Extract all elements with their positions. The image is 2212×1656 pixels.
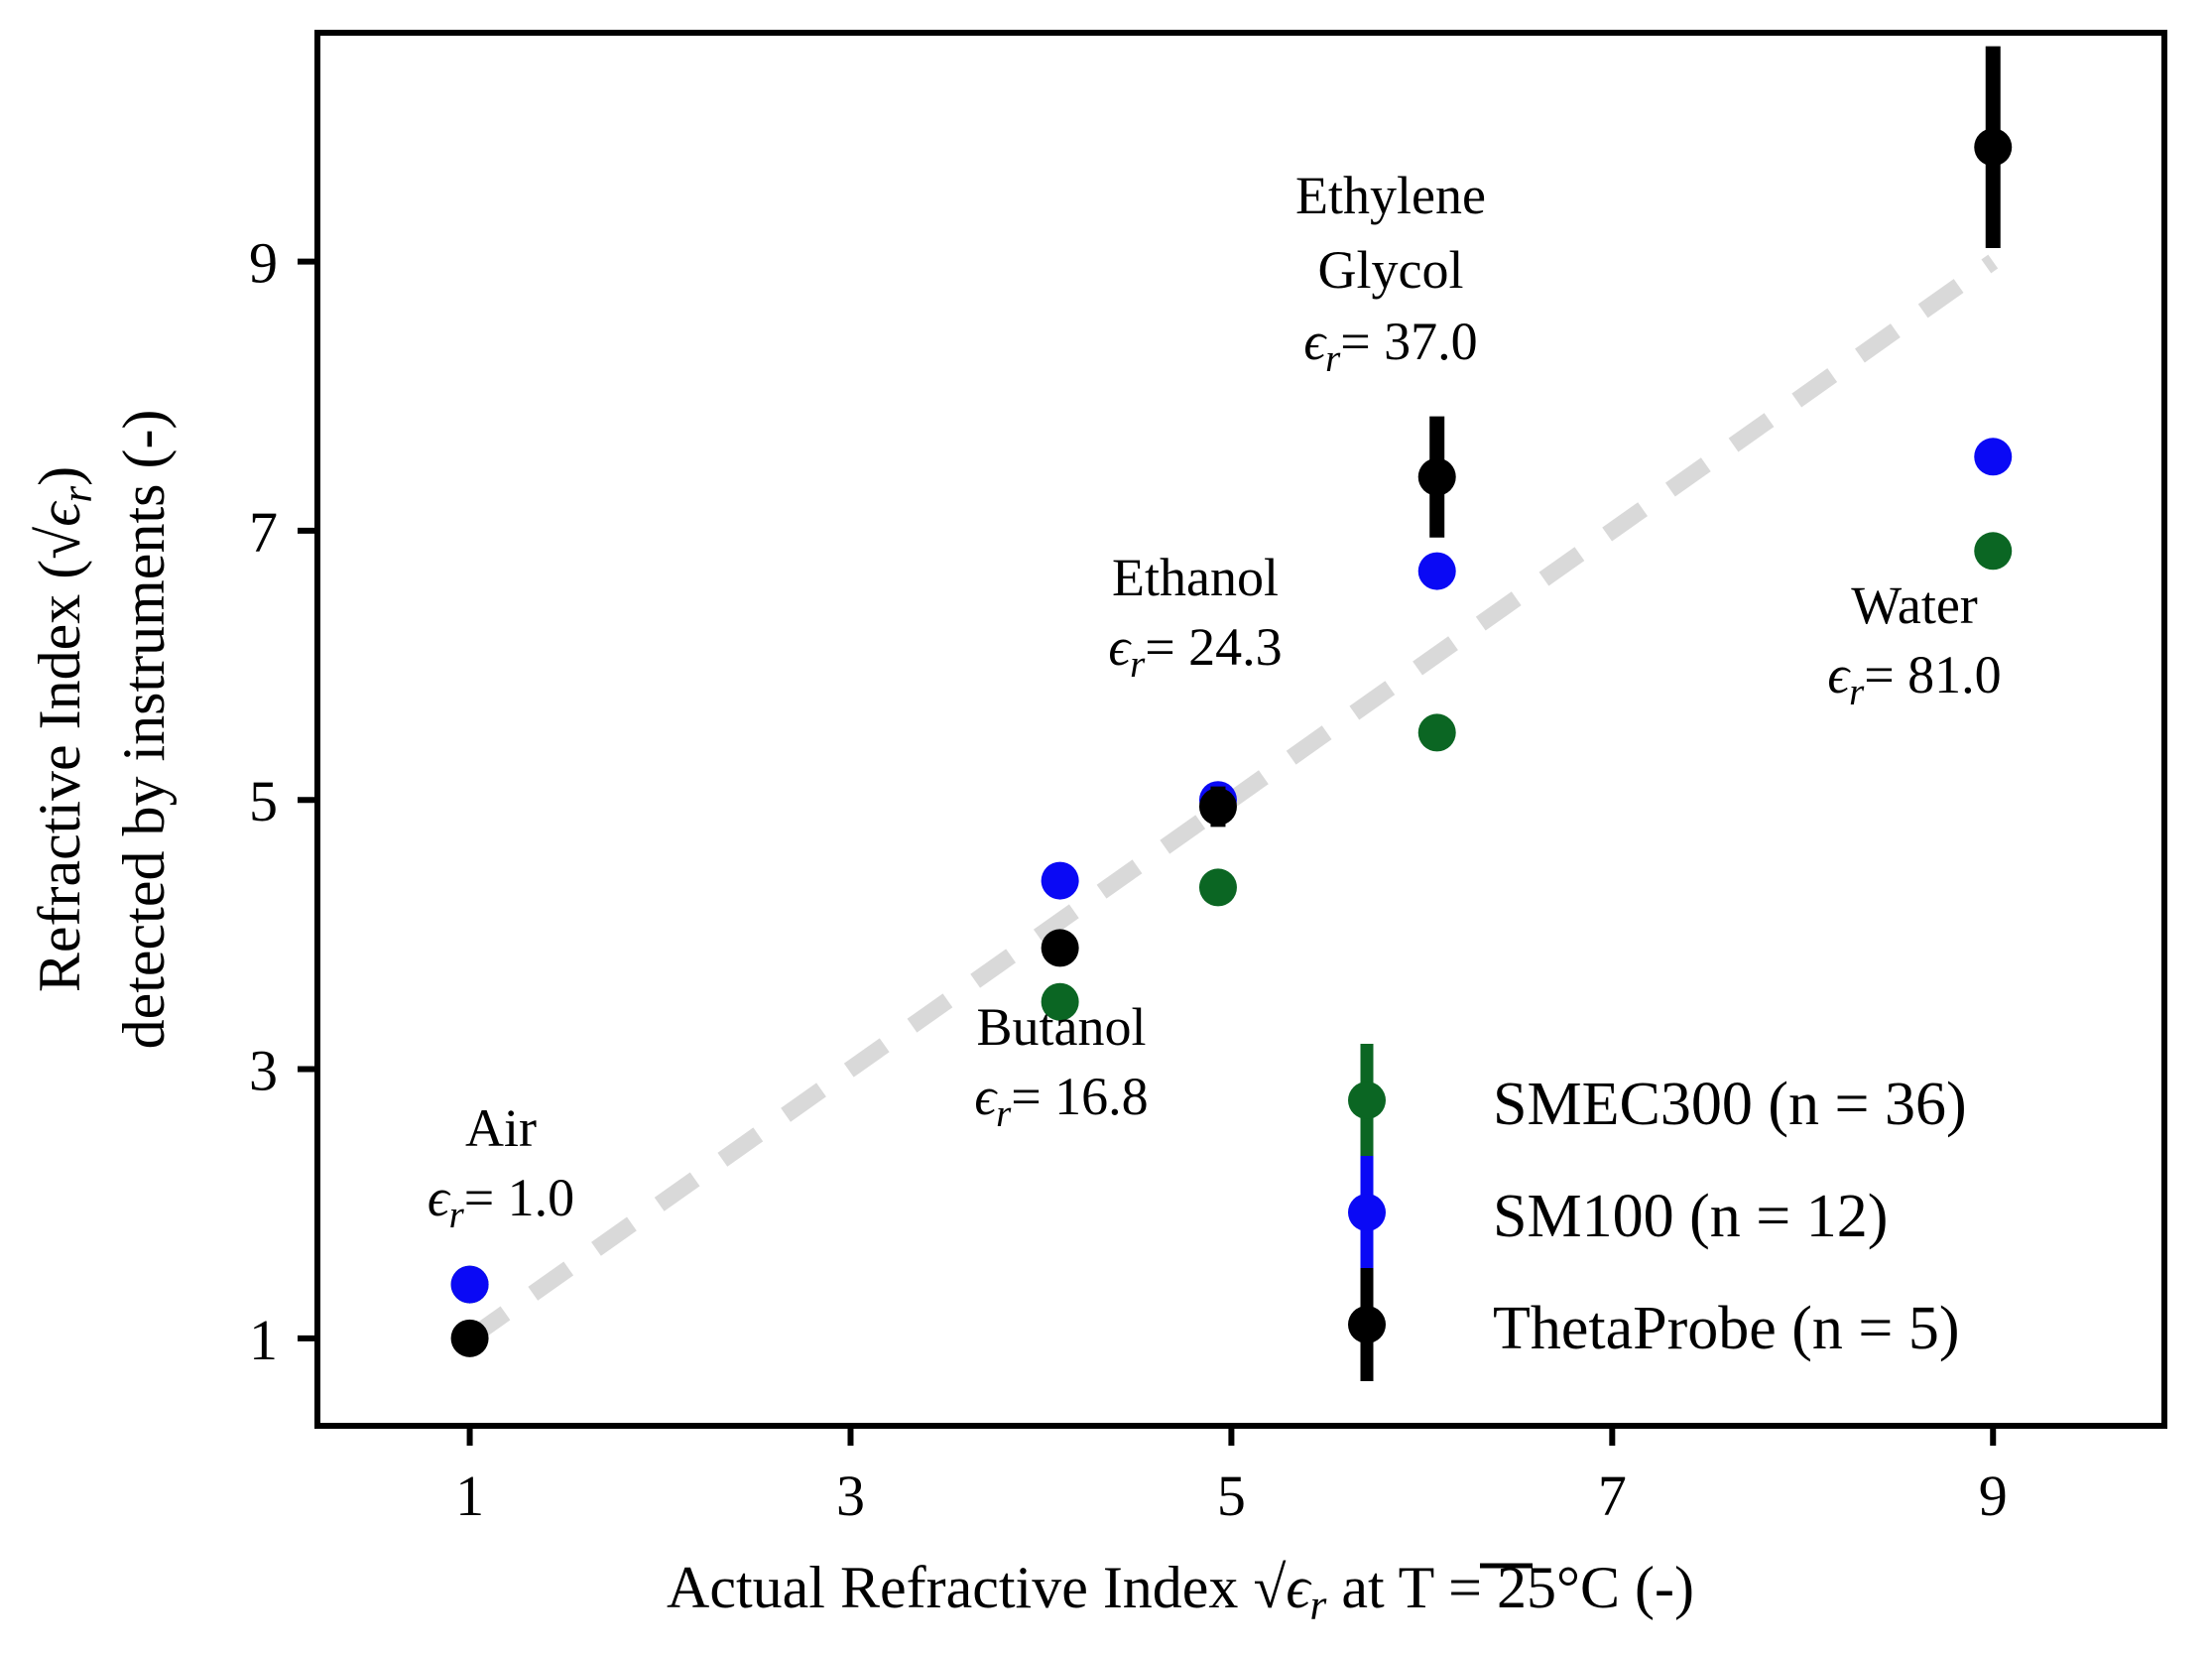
epsilon-subscript: r xyxy=(55,486,101,503)
annotation-air-epsilon-value: = 1.0 xyxy=(464,1168,574,1227)
y-axis-title-suffix: ) xyxy=(27,466,92,486)
y-axis-title-line1-group: Refractive Index (√ϵr) xyxy=(27,466,101,992)
data-point-air-sm100 xyxy=(451,1266,489,1304)
data-point-ethylene-glycol-sm100 xyxy=(1418,553,1456,590)
epsilon-subscript: r xyxy=(1130,643,1146,686)
epsilon-symbol: ϵ xyxy=(974,1067,998,1126)
epsilon-symbol: ϵ xyxy=(1108,617,1132,677)
data-point-ethylene-glycol-smec300 xyxy=(1418,713,1456,751)
y-tick-label: 3 xyxy=(249,1039,278,1103)
data-marker xyxy=(1418,713,1456,751)
data-point-water-smec300 xyxy=(1974,532,2012,570)
y-tick-label: 7 xyxy=(249,500,278,565)
legend-label-thetaprobe: ThetaProbe (n = 5) xyxy=(1493,1295,1960,1362)
data-marker xyxy=(1199,788,1237,826)
y-axis-title-line2: detected by instruments (-) xyxy=(111,410,177,1050)
data-marker xyxy=(1042,929,1079,966)
data-marker xyxy=(1418,553,1456,590)
epsilon-subscript: r xyxy=(996,1092,1012,1135)
annotation-butanol-material: Butanol xyxy=(977,997,1147,1057)
x-axis-title-prefix: Actual Refractive Index xyxy=(667,1555,1238,1620)
epsilon-symbol: ϵ xyxy=(1303,312,1327,371)
annotation-butanol-epsilon-value: = 16.8 xyxy=(1011,1067,1148,1126)
epsilon-symbol: ϵ xyxy=(428,1168,451,1227)
annotation-water-material: Water xyxy=(1851,575,1978,635)
legend-label-sm100: SM100 (n = 12) xyxy=(1493,1183,1888,1250)
x-tick-label: 1 xyxy=(455,1464,484,1528)
data-marker xyxy=(1042,862,1079,900)
data-point-butanol-thetaprobe xyxy=(1042,929,1079,966)
legend-label-smec300: SMEC300 (n = 36) xyxy=(1493,1071,1967,1138)
epsilon-subscript: r xyxy=(1310,1583,1327,1629)
data-point-butanol-sm100 xyxy=(1042,862,1079,900)
y-axis-title-line1: Refractive Index (√ϵr) xyxy=(27,466,101,992)
x-axis-ticks: 13579 xyxy=(455,1426,2008,1528)
data-marker xyxy=(1418,458,1456,496)
annotation-ethanol-epsilon-value: = 24.3 xyxy=(1145,617,1282,677)
x-tick-label: 9 xyxy=(1979,1464,2008,1528)
y-tick-label: 1 xyxy=(249,1308,278,1372)
data-point-air-thetaprobe xyxy=(451,1320,489,1357)
x-tick-label: 3 xyxy=(836,1464,865,1528)
y-tick-label: 9 xyxy=(249,231,278,296)
annotation-ethylene-glycol-line2: Glycol xyxy=(1318,240,1464,300)
epsilon-subscript: r xyxy=(449,1194,465,1236)
epsilon-symbol: ϵ xyxy=(27,500,92,527)
legend-marker-thetaprobe xyxy=(1348,1306,1386,1343)
x-tick-label: 7 xyxy=(1598,1464,1627,1528)
annotation-ethylene-glycol: Ethylene Glycol ϵr= 37.0 xyxy=(1295,166,1486,380)
sqrt-icon: √ xyxy=(27,527,92,560)
epsilon-subscript: r xyxy=(1325,337,1341,380)
legend-marker-sm100 xyxy=(1348,1194,1386,1231)
scatter-plot: 13579 13579 Air ϵr= 1.0 Butanol ϵr= 16.8… xyxy=(0,0,2212,1656)
annotation-ethylene-glycol-line1: Ethylene xyxy=(1295,166,1486,225)
data-marker xyxy=(1974,128,2012,166)
y-axis-ticks: 13579 xyxy=(249,231,317,1372)
sqrt-icon: √ xyxy=(1253,1555,1286,1620)
epsilon-symbol: ϵ xyxy=(1827,645,1851,704)
annotation-air-material: Air xyxy=(465,1098,537,1158)
data-marker xyxy=(1199,868,1237,906)
data-marker xyxy=(1974,438,2012,475)
data-marker xyxy=(451,1266,489,1304)
data-marker xyxy=(1974,532,2012,570)
y-axis-title-line2-group: detected by instruments (-) xyxy=(111,410,177,1050)
y-axis-title-prefix: Refractive Index ( xyxy=(27,560,92,992)
data-point-water-sm100 xyxy=(1974,438,2012,475)
y-tick-label: 5 xyxy=(249,769,278,833)
epsilon-symbol: ϵ xyxy=(1286,1555,1312,1620)
annotation-ethanol-material: Ethanol xyxy=(1112,548,1279,607)
legend-marker-smec300 xyxy=(1348,1082,1386,1119)
data-marker xyxy=(451,1320,489,1357)
data-point-ethanol-smec300 xyxy=(1199,868,1237,906)
x-axis-title: Actual Refractive Index √ϵr at T = 25°C … xyxy=(667,1555,1694,1629)
epsilon-subscript: r xyxy=(1849,671,1865,713)
annotation-eg-epsilon-value: = 37.0 xyxy=(1340,312,1477,371)
annotation-water-epsilon-value: = 81.0 xyxy=(1864,645,2001,704)
figure-container: 13579 13579 Air ϵr= 1.0 Butanol ϵr= 16.8… xyxy=(0,0,2212,1656)
x-tick-label: 5 xyxy=(1217,1464,1246,1528)
